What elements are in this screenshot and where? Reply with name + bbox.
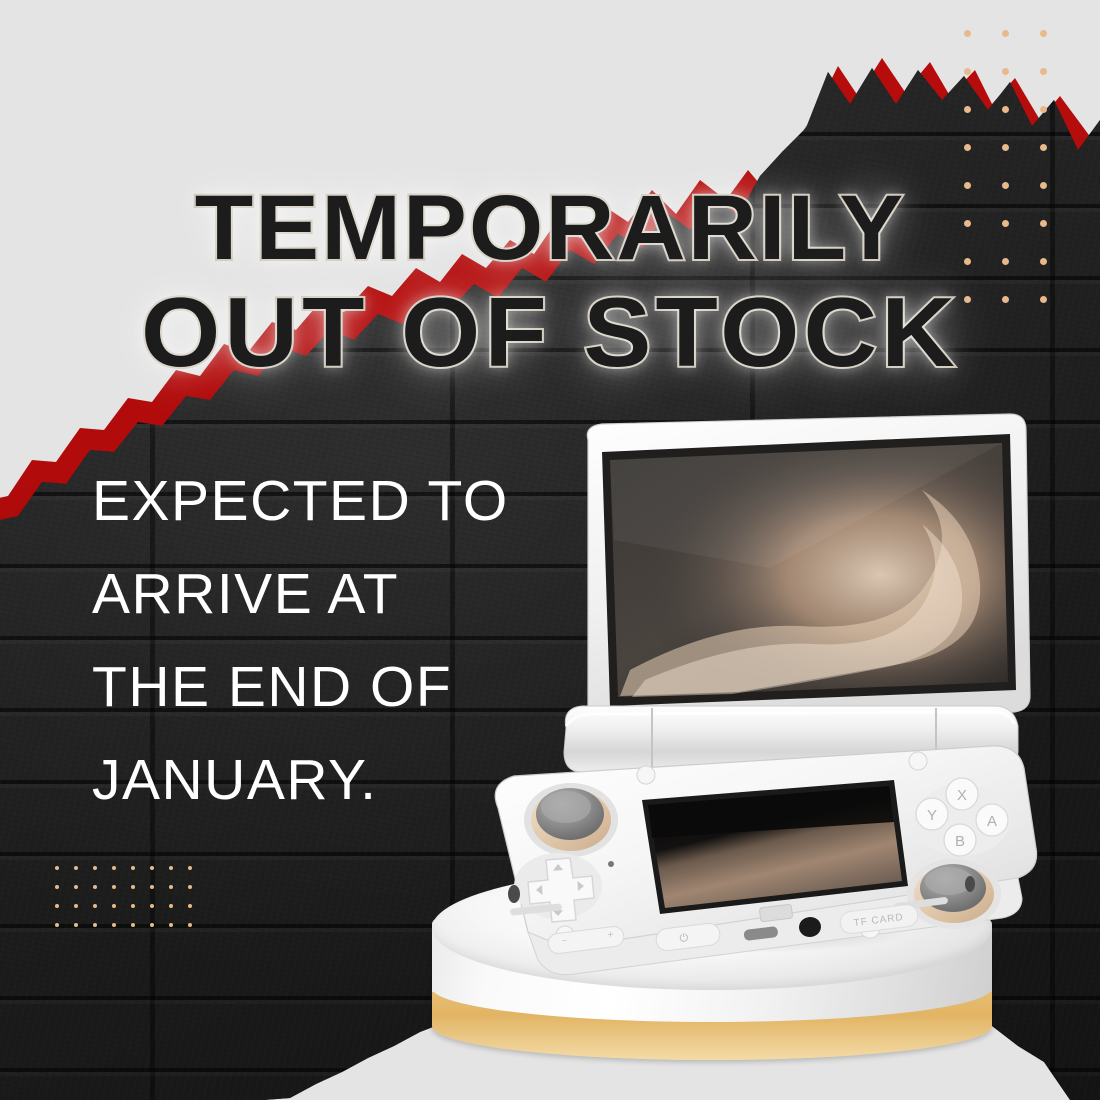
decor-dot xyxy=(131,885,135,889)
decor-dot xyxy=(169,904,173,908)
decor-dot xyxy=(74,885,78,889)
decor-dot xyxy=(188,885,192,889)
decor-dot xyxy=(55,885,59,889)
decor-dot xyxy=(964,106,971,113)
decor-dot xyxy=(112,904,116,908)
decor-dot xyxy=(1002,68,1009,75)
decor-dot xyxy=(188,904,192,908)
select-button xyxy=(637,766,655,784)
power-icon: ⏻ xyxy=(679,932,689,945)
dot-grid-top-right xyxy=(964,30,1078,334)
decor-dot xyxy=(74,904,78,908)
decor-dot xyxy=(74,923,78,927)
decor-dot xyxy=(112,923,116,927)
decor-dot xyxy=(150,866,154,870)
decor-dot xyxy=(131,904,135,908)
decor-dot xyxy=(964,258,971,265)
decor-dot xyxy=(1002,106,1009,113)
promo-banner: TEMPORARILY OUT OF STOCK EXPECTED TO ARR… xyxy=(0,0,1100,1100)
decor-dot xyxy=(1040,258,1047,265)
decor-dot xyxy=(1040,182,1047,189)
decor-dot xyxy=(1002,258,1009,265)
decor-dot xyxy=(1040,144,1047,151)
console-upper-lid xyxy=(587,414,1030,722)
decor-dot xyxy=(1040,68,1047,75)
decor-dot xyxy=(93,885,97,889)
decor-dot xyxy=(150,923,154,927)
decor-dot xyxy=(188,923,192,927)
decor-dot xyxy=(93,904,97,908)
decor-dot xyxy=(74,866,78,870)
decor-dot xyxy=(55,904,59,908)
decor-dot xyxy=(55,923,59,927)
decor-dot xyxy=(188,866,192,870)
microphone-hole xyxy=(608,861,614,867)
decor-dot xyxy=(1040,220,1047,227)
decor-dot xyxy=(150,904,154,908)
decor-dot xyxy=(131,866,135,870)
strap-hole-right xyxy=(965,876,975,892)
decor-dot xyxy=(112,885,116,889)
start-button xyxy=(909,752,927,770)
body-line-4: JANUARY. xyxy=(92,734,562,827)
decor-dot xyxy=(1002,220,1009,227)
decor-dot xyxy=(1040,296,1047,303)
decor-dot xyxy=(964,144,971,151)
decor-dot xyxy=(169,866,173,870)
right-analog-stick xyxy=(907,859,1001,929)
decor-dot xyxy=(964,182,971,189)
decor-dot xyxy=(112,866,116,870)
decor-dot xyxy=(55,866,59,870)
decor-dot xyxy=(964,296,971,303)
decor-dot xyxy=(964,68,971,75)
button-x-label: X xyxy=(957,787,967,804)
body-line-1: EXPECTED TO xyxy=(92,455,562,548)
button-b-label: B xyxy=(955,833,965,850)
body-line-3: THE END OF xyxy=(92,641,562,734)
decor-dot xyxy=(1002,30,1009,37)
body-line-2: ARRIVE AT xyxy=(92,548,562,641)
decor-dot xyxy=(1040,106,1047,113)
decor-dot xyxy=(964,30,971,37)
decor-dot xyxy=(169,885,173,889)
decor-dot xyxy=(93,866,97,870)
decor-dot xyxy=(1002,296,1009,303)
decor-dot xyxy=(964,220,971,227)
body-copy: EXPECTED TO ARRIVE AT THE END OF JANUARY… xyxy=(92,455,562,827)
decor-dot xyxy=(131,923,135,927)
decor-dot xyxy=(1040,30,1047,37)
dot-grid-bottom-left xyxy=(55,866,207,942)
button-a-label: A xyxy=(987,813,997,830)
decor-dot xyxy=(93,923,97,927)
button-y-label: Y xyxy=(927,807,937,824)
decor-dot xyxy=(1002,182,1009,189)
decor-dot xyxy=(1002,144,1009,151)
strap-hole-left xyxy=(508,885,520,903)
decor-dot xyxy=(150,885,154,889)
decor-dot xyxy=(169,923,173,927)
